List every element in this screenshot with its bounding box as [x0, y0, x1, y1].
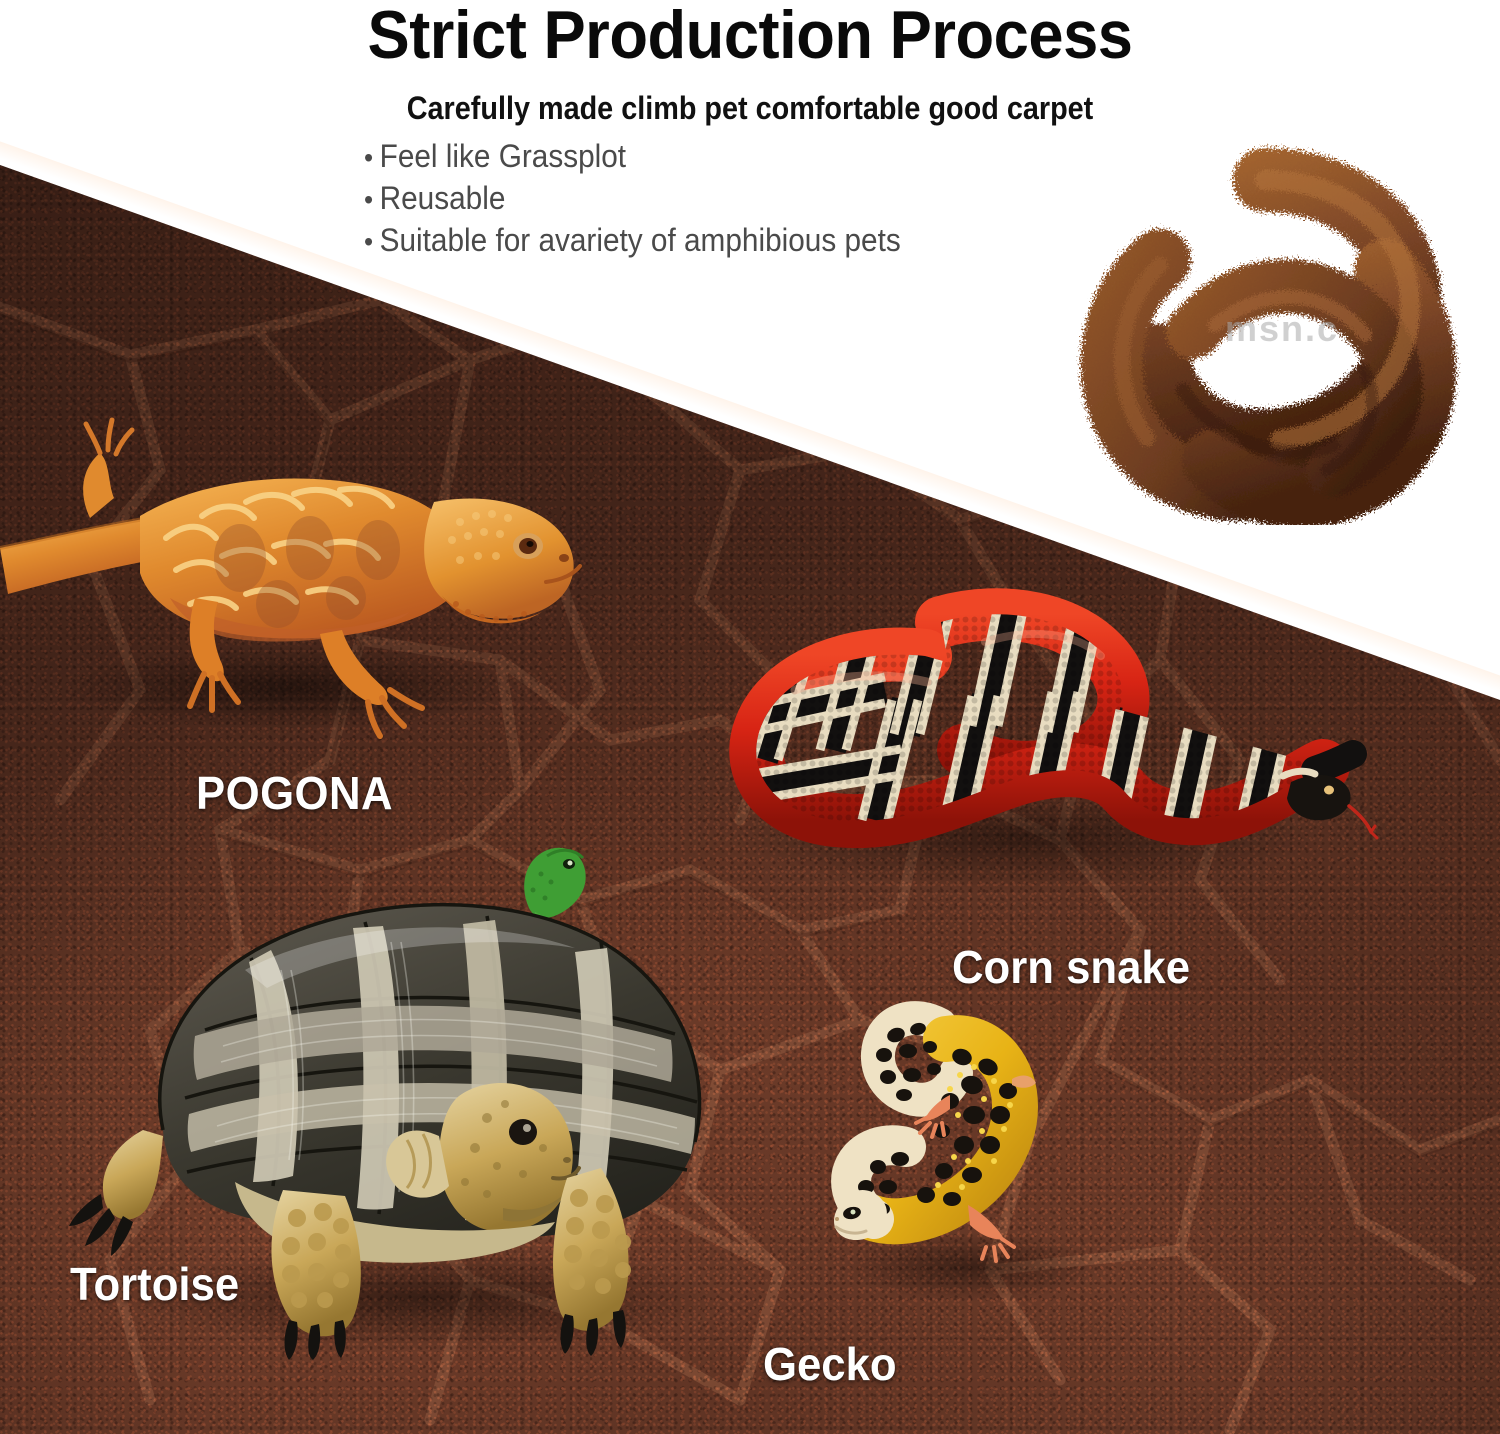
bullet-dot-icon: • [364, 144, 373, 172]
label-tortoise: Tortoise [70, 1257, 239, 1311]
list-item-label: Feel like Grassplot [380, 138, 626, 175]
label-gecko: Gecko [763, 1337, 897, 1391]
list-item: • Suitable for avariety of amphibious pe… [364, 222, 901, 264]
page-title: Strict Production Process [53, 0, 1448, 74]
bullet-dot-icon: • [364, 186, 373, 214]
list-item-label: Suitable for avariety of amphibious pets [380, 222, 901, 259]
page-subtitle: Carefully made climb pet comfortable goo… [75, 90, 1425, 127]
bearded-dragon-photo [0, 398, 610, 758]
feature-list: • Feel like Grassplot • Reusable • Suita… [364, 138, 941, 264]
list-item: • Feel like Grassplot [364, 138, 901, 180]
bullet-dot-icon: • [364, 228, 373, 256]
product-infographic: Strict Production Process Carefully made… [0, 0, 1500, 1434]
list-item: • Reusable [364, 180, 901, 222]
label-corn-snake: Corn snake [952, 940, 1190, 994]
leopard-gecko-photo [822, 995, 1122, 1325]
label-pogona: POGONA [196, 766, 393, 820]
list-item-label: Reusable [380, 180, 506, 217]
coiled-carpet-product-photo: msn.c [1065, 140, 1465, 525]
